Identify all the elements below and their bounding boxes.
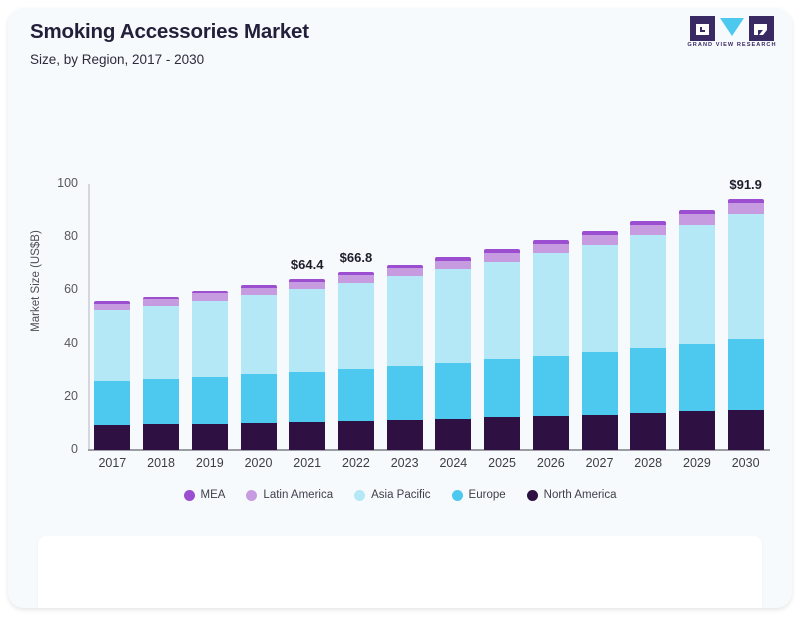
bar-column[interactable] <box>435 257 471 450</box>
bar-segment <box>728 203 764 214</box>
legend-swatch-icon <box>452 490 463 501</box>
screenshot-root: Smoking Accessories Market Size, by Regi… <box>0 0 800 623</box>
bar-segment <box>94 310 130 381</box>
bar-segment <box>289 282 325 290</box>
legend-item[interactable]: North America <box>527 489 617 501</box>
bar-segment <box>484 359 520 417</box>
bar-column[interactable] <box>143 297 179 450</box>
bar-segment <box>679 214 715 225</box>
bar-segment <box>94 304 130 311</box>
bar-segment <box>387 420 423 450</box>
bar-segment <box>582 352 618 415</box>
bar-segment <box>435 269 471 362</box>
bar-column[interactable] <box>679 210 715 450</box>
bar-segment <box>582 415 618 450</box>
legend-item[interactable]: MEA <box>184 489 226 501</box>
bar-segment <box>338 369 374 421</box>
bar-segment <box>192 293 228 300</box>
bar-column[interactable] <box>387 265 423 450</box>
x-axis-tick: 2030 <box>716 456 776 470</box>
chart-subtitle: Size, by Region, 2017 - 2030 <box>30 52 204 67</box>
bar-segment <box>241 374 277 422</box>
bar-column[interactable] <box>533 240 569 450</box>
page-title: Smoking Accessories Market <box>30 20 309 44</box>
bar-segment <box>192 424 228 450</box>
legend-label: MEA <box>201 489 226 501</box>
bar-segment <box>435 419 471 450</box>
bar-segment <box>679 411 715 450</box>
bar-segment <box>484 262 520 360</box>
bar-segment <box>192 377 228 424</box>
bar-segment <box>728 214 764 339</box>
bar-column[interactable] <box>338 272 374 450</box>
bar-segment <box>387 366 423 420</box>
y-axis-tick: 60 <box>36 282 78 296</box>
bar-value-label: $66.8 <box>316 250 396 265</box>
bar-segment <box>143 299 179 306</box>
chart-legend: MEALatin AmericaAsia PacificEuropeNorth … <box>8 489 792 501</box>
bar-segment <box>484 417 520 450</box>
bar-segment <box>679 225 715 344</box>
bar-column[interactable] <box>192 291 228 450</box>
y-axis-tick: 20 <box>36 389 78 403</box>
bottom-panel <box>38 536 762 608</box>
bar-segment <box>94 381 130 425</box>
bar-segment <box>679 344 715 412</box>
bar-segment <box>143 424 179 450</box>
bar-segment <box>338 421 374 450</box>
chart-card: Smoking Accessories Market Size, by Regi… <box>8 8 792 608</box>
bar-column[interactable] <box>484 249 520 450</box>
bar-segment <box>289 372 325 422</box>
bar-segment <box>630 235 666 348</box>
legend-item[interactable]: Latin America <box>246 489 333 501</box>
bar-segment <box>387 268 423 276</box>
bar-column[interactable] <box>241 285 277 450</box>
legend-label: North America <box>544 489 617 501</box>
bar-segment <box>728 339 764 410</box>
bar-segment <box>192 301 228 377</box>
bar-segment <box>143 379 179 424</box>
y-axis-tick: 0 <box>36 442 78 456</box>
legend-swatch-icon <box>354 490 365 501</box>
bar-segment <box>484 253 520 262</box>
bar-segment <box>289 422 325 450</box>
bar-segment <box>582 245 618 352</box>
bar-column[interactable] <box>582 231 618 450</box>
logo-mark-icon <box>690 16 774 42</box>
bar-segment <box>728 410 764 450</box>
bar-segment <box>630 225 666 235</box>
bar-segment <box>143 306 179 379</box>
bar-segment <box>533 416 569 450</box>
bar-segment <box>582 235 618 245</box>
logo-text: GRAND VIEW RESEARCH <box>680 42 784 48</box>
bar-segment <box>435 363 471 419</box>
legend-swatch-icon <box>527 490 538 501</box>
bar-segment <box>241 295 277 374</box>
bar-segment <box>289 289 325 371</box>
bar-segment <box>533 244 569 254</box>
y-axis-tick: 100 <box>36 176 78 190</box>
legend-label: Latin America <box>263 489 333 501</box>
y-axis-tick: 40 <box>36 336 78 350</box>
chart-header: Smoking Accessories Market Size, by Regi… <box>8 8 792 100</box>
bar-segment <box>338 283 374 369</box>
bar-column[interactable] <box>728 199 764 450</box>
legend-item[interactable]: Europe <box>452 489 506 501</box>
bar-column[interactable] <box>289 279 325 450</box>
chart-plot-area: Market Size (US$B) 020406080100 20172018… <box>8 100 792 490</box>
bar-column[interactable] <box>94 301 130 450</box>
bar-segment <box>533 253 569 355</box>
bar-segment <box>241 288 277 295</box>
bar-column[interactable] <box>630 221 666 450</box>
legend-swatch-icon <box>184 490 195 501</box>
bar-segment <box>533 356 569 416</box>
bar-segment <box>630 413 666 450</box>
legend-item[interactable]: Asia Pacific <box>354 489 430 501</box>
bar-value-label: $91.9 <box>706 177 786 192</box>
bar-segment <box>387 276 423 365</box>
bar-segment <box>435 261 471 270</box>
bar-segment <box>94 425 130 450</box>
legend-label: Europe <box>469 489 506 501</box>
bar-segment <box>338 275 374 283</box>
bar-segment <box>630 348 666 413</box>
bar-segment <box>241 423 277 450</box>
bar-group <box>88 184 770 450</box>
legend-label: Asia Pacific <box>371 489 430 501</box>
y-axis-tick: 80 <box>36 229 78 243</box>
grand-view-research-logo: GRAND VIEW RESEARCH <box>680 14 784 60</box>
legend-swatch-icon <box>246 490 257 501</box>
